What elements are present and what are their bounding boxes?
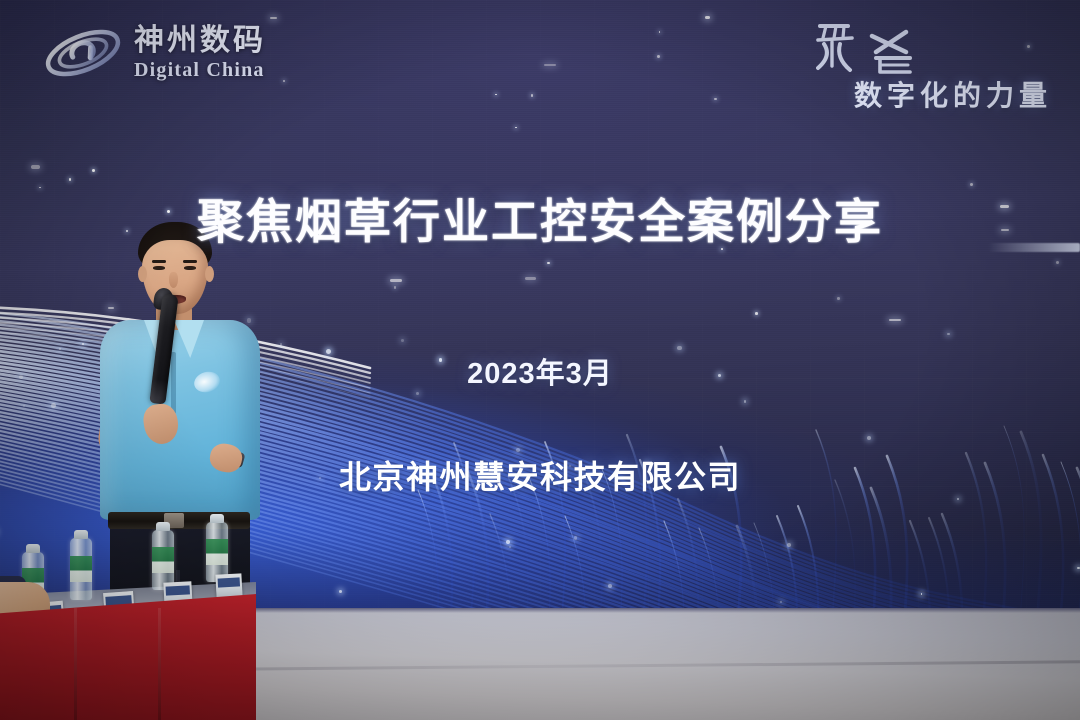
star-dot — [270, 17, 277, 19]
speaker-ear-right — [205, 266, 214, 282]
bottle-label — [70, 556, 92, 582]
bottle-cap — [74, 530, 88, 539]
light-particle — [608, 584, 613, 589]
light-particle — [787, 543, 791, 547]
light-particle — [23, 405, 25, 407]
light-particle — [416, 392, 419, 395]
digital-china-wordmark: 神州数码 Digital China — [134, 26, 266, 80]
star-dot — [92, 169, 95, 172]
red-tablecloth — [0, 594, 256, 720]
star-dot — [547, 262, 549, 264]
logo-name-cn: 神州数码 — [134, 26, 266, 56]
star-dot — [657, 55, 660, 58]
water-bottle — [152, 530, 174, 590]
light-particle — [401, 339, 404, 342]
light-particle — [867, 436, 871, 440]
galaxy-swirl-icon — [42, 20, 124, 86]
screen-accent-dash — [988, 243, 1080, 252]
star-dot — [714, 98, 717, 101]
light-particle — [51, 403, 56, 408]
digital-china-logo: 神州数码 Digital China — [42, 20, 266, 86]
tablecloth-fold — [74, 608, 77, 720]
bottle-label — [152, 547, 174, 573]
light-particle — [280, 343, 283, 346]
star-dot — [69, 178, 71, 180]
star-dot — [515, 127, 517, 129]
speaker-nose — [169, 272, 178, 288]
star-dot — [659, 31, 661, 33]
star-dot — [283, 80, 285, 82]
event-brand-logo: 数字化的力量 — [802, 16, 1052, 114]
light-particle — [574, 536, 578, 540]
star-dot — [525, 277, 536, 280]
name-card-stripe — [166, 585, 190, 595]
logo-name-en: Digital China — [134, 60, 266, 80]
bottle-cap — [156, 522, 170, 531]
star-dot — [531, 94, 534, 97]
bottle-cap — [26, 544, 40, 553]
light-particle — [509, 546, 511, 548]
light-particle — [82, 343, 84, 345]
bottle-cap — [210, 514, 224, 523]
light-particle — [780, 601, 782, 603]
light-particle — [506, 540, 510, 544]
slide-title: 聚焦烟草行业工控安全案例分享 — [0, 183, 1080, 252]
event-brand-subtitle: 数字化的力量 — [802, 74, 1052, 114]
water-bottle — [206, 522, 228, 582]
brush-calligraphy-juhe — [802, 16, 1052, 78]
slide-date: 2023年3月 — [0, 350, 1080, 392]
light-particle — [947, 333, 949, 335]
slide-company-name: 北京神州慧安科技有限公司 — [0, 452, 1080, 498]
tablecloth-fold — [158, 608, 161, 720]
star-dot — [544, 64, 556, 66]
star-dot — [1056, 261, 1060, 265]
speaker-eyebrow-left — [152, 260, 166, 263]
speaker-ear-left — [138, 266, 147, 282]
star-dot — [31, 165, 41, 168]
conference-stage-photo: 聚焦烟草行业工控安全案例分享 2023年3月 北京神州慧安科技有限公司 — [0, 0, 1080, 720]
speaker-eye-right — [184, 266, 196, 270]
speaker-eyebrow-right — [183, 260, 197, 263]
name-card-stripe — [218, 577, 240, 587]
light-particle — [744, 400, 746, 402]
foreground-head-table — [0, 540, 256, 720]
bottle-label — [206, 539, 228, 565]
star-dot — [390, 279, 402, 281]
star-dot — [495, 94, 497, 96]
star-dot — [394, 286, 397, 289]
water-bottle — [70, 538, 92, 600]
name-card — [215, 573, 242, 598]
star-dot — [705, 16, 710, 19]
speaker-eye-left — [153, 266, 165, 270]
light-particle — [921, 593, 923, 595]
light-particle — [339, 590, 342, 593]
